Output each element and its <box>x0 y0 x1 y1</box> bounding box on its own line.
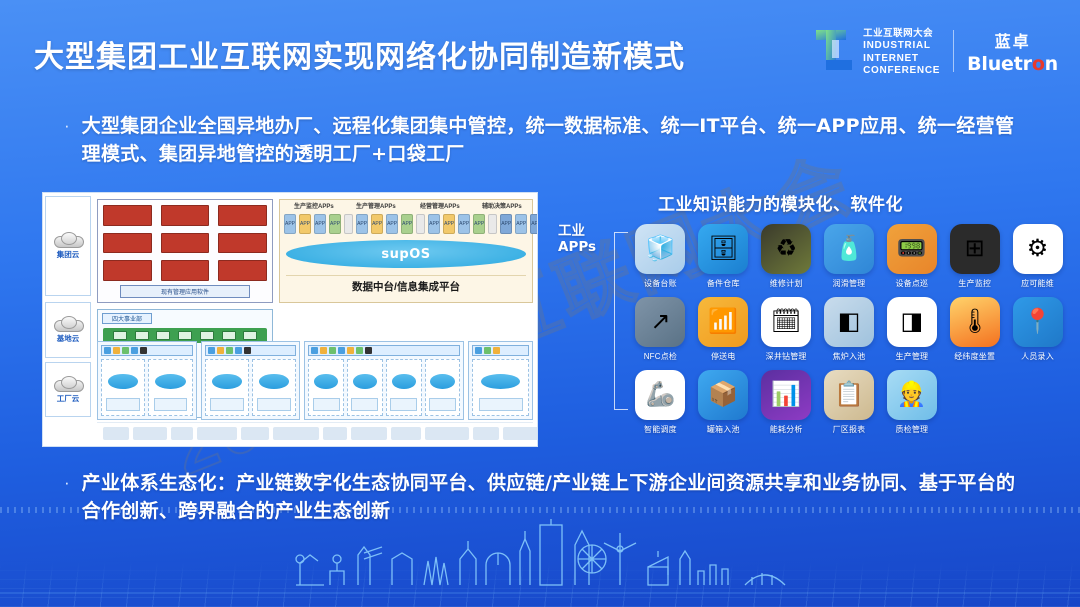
app-label: 润滑管理 <box>833 278 866 289</box>
app-item[interactable]: 🧊设备台账 <box>632 224 689 289</box>
app-item[interactable]: ⚙应可能维 <box>1009 224 1066 289</box>
unit-chip <box>200 331 214 340</box>
lubrication-management-icon[interactable]: 🧴 <box>824 224 874 274</box>
legacy-system-cell <box>103 233 152 254</box>
bluetron-en-part2: n <box>1045 53 1058 75</box>
app-label: 质检管理 <box>895 424 928 435</box>
conference-name-en-1: INDUSTRIAL <box>863 40 940 52</box>
factory-group <box>304 341 464 420</box>
unit-chip <box>178 331 192 340</box>
bullet-text-2: 产业体系生态化：产业链数字化生态协同平台、供应链/产业链上下游企业间资源共享和业… <box>82 470 1024 525</box>
cloud-tier-column: 集团云 基地云 工厂云 <box>45 196 91 443</box>
app-segment-label-3: 辅助决策APPs <box>482 201 522 210</box>
app-glyph: 📊 <box>771 383 801 407</box>
data-platform-label: 数据中台/信息集成平台 <box>352 279 460 294</box>
app-glyph: ♻ <box>775 237 797 261</box>
legacy-systems-grid <box>103 205 267 281</box>
industrial-apps-panel: 工业知识能力的模块化、软件化 工业 APPs 🧊设备台账🗄备件仓库♻维修计划🧴润… <box>556 192 1066 447</box>
equipment-photo-strip <box>97 422 533 444</box>
app-item[interactable]: 🌡经纬度坐置 <box>946 297 1003 362</box>
app-glyph: ◨ <box>901 310 924 334</box>
app-label: 厂区报表 <box>833 424 866 435</box>
factory-group-header <box>308 345 460 356</box>
app-glyph: 🗄 <box>708 237 738 261</box>
app-item[interactable]: ↗NFC点检 <box>632 297 689 362</box>
apps-label-cn: 工业 <box>558 224 614 240</box>
cloud-icon <box>54 232 82 248</box>
app-chip: APP <box>500 214 512 234</box>
factory-cell <box>205 359 249 416</box>
app-label: 人员录入 <box>1021 351 1054 362</box>
app-label: 经纬度坐置 <box>954 351 995 362</box>
legacy-system-cell <box>218 260 267 281</box>
bluetron-planet-icon: o <box>1032 53 1045 75</box>
perspective-floor <box>0 561 1080 607</box>
app-item[interactable]: ◨生产管理 <box>883 297 940 362</box>
factory-group-header <box>101 345 193 356</box>
unit-chip <box>135 331 149 340</box>
app-item[interactable]: 📍人员录入 <box>1009 297 1066 362</box>
bullet-item-1: · 大型集团企业全国异地办厂、远程化集团集中管控，统一数据标准、统一IT平台、统… <box>64 113 1024 168</box>
app-label: 停送电 <box>711 351 736 362</box>
tank-container-icon[interactable]: 📦 <box>698 370 748 420</box>
slide-header: 大型集团工业互联网实现网络化协同制造新模式 工业互联网大会 <box>0 0 1080 96</box>
app-label: 智能调度 <box>644 424 677 435</box>
app-item[interactable]: 🗓深井钻管理 <box>758 297 815 362</box>
app-glyph: 🗓 <box>771 310 801 334</box>
app-glyph: 📍 <box>1023 310 1053 334</box>
app-item[interactable]: 👷质检管理 <box>883 370 940 435</box>
app-glyph: 📦 <box>708 383 738 407</box>
app-glyph: 🦾 <box>645 383 675 407</box>
app-label: 生产管理 <box>895 351 928 362</box>
app-chip: APP <box>458 214 470 234</box>
conference-name-cn: 工业互联网大会 <box>863 25 940 39</box>
app-item[interactable]: 📋厂区报表 <box>821 370 878 435</box>
logo-group: 工业互联网大会 INDUSTRIAL INTERNET CONFERENCE 蓝… <box>812 26 1058 76</box>
app-chip: APP <box>356 214 368 234</box>
factory-cell <box>472 359 529 416</box>
factory-cell <box>425 359 461 416</box>
factory-group <box>468 341 533 420</box>
apps-label-en: APPs <box>558 240 614 256</box>
app-glyph: 🧴 <box>834 237 864 261</box>
app-label: 罐箱入池 <box>707 424 740 435</box>
temperature-location-icon[interactable]: 🌡 <box>950 297 1000 347</box>
app-label: 设备点巡 <box>895 278 928 289</box>
app-label: 能耗分析 <box>770 424 803 435</box>
app-chip: APP <box>530 214 538 234</box>
bluetron-logo: 蓝卓 Bluetron <box>967 28 1058 75</box>
business-units-label: 四大事业部 <box>102 313 152 324</box>
logo-divider <box>953 30 954 72</box>
cloud-icon <box>54 376 82 392</box>
legacy-systems-box: 现有管理应用软件 <box>97 199 273 303</box>
bullet-marker: · <box>64 113 70 168</box>
app-label: 应可能维 <box>1021 278 1054 289</box>
intelligent-scheduling-icon[interactable]: 🦾 <box>635 370 685 420</box>
unit-chip <box>222 331 236 340</box>
bullet-marker: · <box>64 470 70 525</box>
factory-cell <box>308 359 344 416</box>
apps-panel-title: 工业知识能力的模块化、软件化 <box>658 190 903 215</box>
app-segment-label-2: 经营管理APPs <box>420 201 460 210</box>
apps-grid: 🧊设备台账🗄备件仓库♻维修计划🧴润滑管理📟设备点巡⊞生产监控⚙应可能维↗NFC点… <box>632 224 1066 435</box>
deep-well-drilling-icon[interactable]: 🗓 <box>761 297 811 347</box>
plant-report-icon[interactable]: 📋 <box>824 370 874 420</box>
app-label: 生产监控 <box>958 278 991 289</box>
nfc-inspection-icon[interactable]: ↗ <box>635 297 685 347</box>
app-glyph: ⚙ <box>1027 237 1049 261</box>
legacy-system-cell <box>161 260 210 281</box>
supos-core: supOS <box>286 240 526 268</box>
conference-name-en-2: INTERNET <box>863 53 940 65</box>
factory-group-header <box>472 345 529 356</box>
architecture-diagram: 集团云 基地云 工厂云 现有管理应用软 <box>42 192 538 447</box>
app-item[interactable]: 📦罐箱入池 <box>695 370 752 435</box>
factory-cell <box>148 359 192 416</box>
legacy-system-cell <box>103 260 152 281</box>
app-item[interactable]: 🧴润滑管理 <box>821 224 878 289</box>
cloud-tier-label-2: 工厂云 <box>57 393 80 404</box>
bullet-text-1: 大型集团企业全国异地办厂、远程化集团集中管控，统一数据标准、统一IT平台、统一A… <box>82 113 1024 168</box>
bluetron-en-part1: Bluetr <box>967 53 1032 75</box>
app-segment-label-1: 生产管理APPs <box>356 201 396 210</box>
conference-name-en-3: CONFERENCE <box>863 65 940 77</box>
personnel-entry-icon[interactable]: 📍 <box>1013 297 1063 347</box>
app-chip: APP <box>371 214 383 234</box>
app-label: 深井钻管理 <box>766 351 807 362</box>
app-glyph: 📋 <box>834 383 864 407</box>
app-item[interactable]: 🗄备件仓库 <box>695 224 752 289</box>
data-platform-bar: 数据中台/信息集成平台 <box>286 275 526 297</box>
app-segment-label-0: 生产监控APPs <box>294 201 334 210</box>
bullet-item-2: · 产业体系生态化：产业链数字化生态协同平台、供应链/产业链上下游企业间资源共享… <box>64 470 1024 525</box>
app-glyph: 📟 <box>897 237 927 261</box>
legacy-system-cell <box>161 205 210 226</box>
app-chip: APP <box>284 214 296 234</box>
app-glyph: ↗ <box>650 310 670 334</box>
app-glyph: ⊞ <box>965 237 985 261</box>
app-item[interactable]: ⊞生产监控 <box>946 224 1003 289</box>
app-label: 维修计划 <box>770 278 803 289</box>
app-chip-spacer <box>344 214 353 234</box>
app-chip: APP <box>515 214 527 234</box>
bluetron-name-cn: 蓝卓 <box>995 28 1031 52</box>
app-chip: APP <box>299 214 311 234</box>
app-chip: APP <box>401 214 413 234</box>
factory-cell <box>101 359 145 416</box>
supos-brand-label: supOS <box>381 247 430 262</box>
app-chip: APP <box>329 214 341 234</box>
cloud-icon <box>54 316 82 332</box>
factory-cloud-strip <box>97 341 533 420</box>
equipment-ledger-icon[interactable]: 🧊 <box>635 224 685 274</box>
factory-cell <box>386 359 422 416</box>
factory-cells <box>101 359 193 416</box>
conference-tmark-icon <box>812 28 856 74</box>
coke-oven-charging-icon[interactable]: ◧ <box>824 297 874 347</box>
app-chip: APP <box>386 214 398 234</box>
cloud-tier-base: 基地云 <box>45 302 91 358</box>
unit-chip <box>243 331 257 340</box>
unit-chip <box>113 331 127 340</box>
factory-cell <box>252 359 296 416</box>
cloud-tier-group: 集团云 <box>45 196 91 296</box>
legacy-system-cell <box>161 233 210 254</box>
factory-cells <box>205 359 297 416</box>
app-label: NFC点检 <box>644 351 677 362</box>
factory-group <box>201 341 301 420</box>
platform-app-chip-row: APP APP APP APP APP APP APP APP APP APP … <box>284 213 528 235</box>
legacy-system-cell <box>218 205 267 226</box>
app-label: 备件仓库 <box>707 278 740 289</box>
app-item[interactable]: 📊能耗分析 <box>758 370 815 435</box>
app-chip: APP <box>314 214 326 234</box>
app-label: 设备台账 <box>644 278 677 289</box>
factory-cell <box>347 359 383 416</box>
legacy-system-cell <box>103 205 152 226</box>
supos-platform-panel: 生产监控APPs 生产管理APPs 经营管理APPs 辅助决策APPs APP … <box>279 199 533 303</box>
factory-group <box>97 341 197 420</box>
apps-bracket <box>614 232 628 410</box>
production-monitoring-icon[interactable]: ⊞ <box>950 224 1000 274</box>
spare-parts-warehouse-icon[interactable]: 🗄 <box>698 224 748 274</box>
app-chip-spacer <box>416 214 425 234</box>
legacy-system-cell <box>218 233 267 254</box>
maintenance-plan-icon[interactable]: ♻ <box>761 224 811 274</box>
energy-consumption-analysis-icon[interactable]: 📊 <box>761 370 811 420</box>
cloud-tier-factory: 工厂云 <box>45 362 91 417</box>
app-glyph: 🧊 <box>645 237 675 261</box>
app-chip: APP <box>443 214 455 234</box>
unit-chip <box>156 331 170 340</box>
cloud-tier-label-0: 集团云 <box>57 249 80 260</box>
app-chip: APP <box>473 214 485 234</box>
app-item[interactable]: 📶停送电 <box>695 297 752 362</box>
factory-cells <box>472 359 529 416</box>
app-glyph: 🌡 <box>959 310 989 334</box>
production-management-icon[interactable]: ◨ <box>887 297 937 347</box>
industrial-apps-label: 工业 APPs <box>558 224 614 255</box>
conference-name: 工业互联网大会 INDUSTRIAL INTERNET CONFERENCE <box>863 25 940 77</box>
cloud-tier-label-1: 基地云 <box>57 333 80 344</box>
power-switching-icon[interactable]: 📶 <box>698 297 748 347</box>
app-chip-spacer <box>488 214 497 234</box>
equipment-inspection-icon[interactable]: 📟 <box>887 224 937 274</box>
page-title: 大型集团工业互联网实现网络化协同制造新模式 <box>34 32 685 76</box>
app-item[interactable]: 📟设备点巡 <box>883 224 940 289</box>
bluetron-name-en: Bluetron <box>967 53 1058 75</box>
app-glyph: 📶 <box>708 310 738 334</box>
app-chip: APP <box>428 214 440 234</box>
factory-cells <box>308 359 460 416</box>
app-glyph: ◧ <box>838 310 861 334</box>
factory-group-header <box>205 345 297 356</box>
app-item[interactable]: ◧焦炉入池 <box>821 297 878 362</box>
predictive-maintenance-icon[interactable]: ⚙ <box>1013 224 1063 274</box>
app-item[interactable]: 🦾智能调度 <box>632 370 689 435</box>
app-label: 焦炉入池 <box>833 351 866 362</box>
app-glyph: 👷 <box>897 383 927 407</box>
app-item[interactable]: ♻维修计划 <box>758 224 815 289</box>
conference-logo: 工业互联网大会 INDUSTRIAL INTERNET CONFERENCE <box>812 25 940 77</box>
quality-inspection-icon[interactable]: 👷 <box>887 370 937 420</box>
legacy-box-caption: 现有管理应用软件 <box>120 285 250 298</box>
